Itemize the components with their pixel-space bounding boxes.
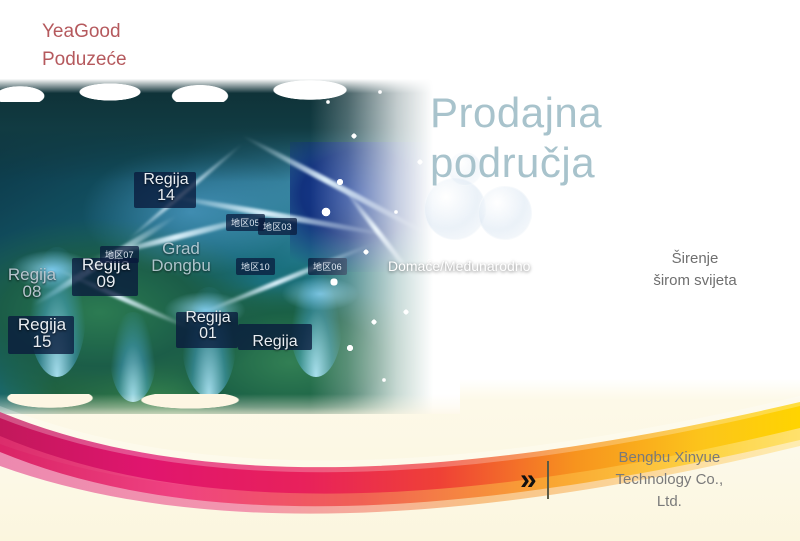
decor-bubble <box>424 178 486 240</box>
map-region-label: Regija 15 <box>4 316 80 351</box>
company-name: Bengbu Xinyue Technology Co., Ltd. <box>559 447 780 512</box>
page-title: Prodajna područja <box>430 88 770 187</box>
slide-canvas: Regija 14 Regija 09 Regija 08 Regija 15 … <box>0 0 800 541</box>
map-overlay-caption: Domaće/Međunarodno <box>388 258 530 274</box>
map-region-label: Regija 01 <box>172 310 244 343</box>
decor-bubble <box>478 186 532 240</box>
double-chevron-icon: » <box>520 465 537 495</box>
brand-title: YeaGood Poduzeće <box>42 18 127 73</box>
sales-region-map[interactable]: Regija 14 Regija 09 Regija 08 Regija 15 … <box>0 62 460 414</box>
map-region-label: Regija 08 <box>0 266 70 301</box>
map-region-label: Regija 14 <box>130 172 202 205</box>
map-city-label: Grad Dongbu <box>138 240 224 275</box>
subtitle-text: Širenje širom svijeta <box>600 248 790 292</box>
map-district-tag: 地区03 <box>258 218 297 235</box>
footer-company-block: » Bengbu Xinyue Technology Co., Ltd. <box>520 445 780 515</box>
map-region-label: Regija <box>238 334 312 350</box>
footer-divider <box>547 461 549 499</box>
map-district-tag: 地区07 <box>100 246 139 263</box>
map-district-tag: 地区10 <box>236 258 275 275</box>
